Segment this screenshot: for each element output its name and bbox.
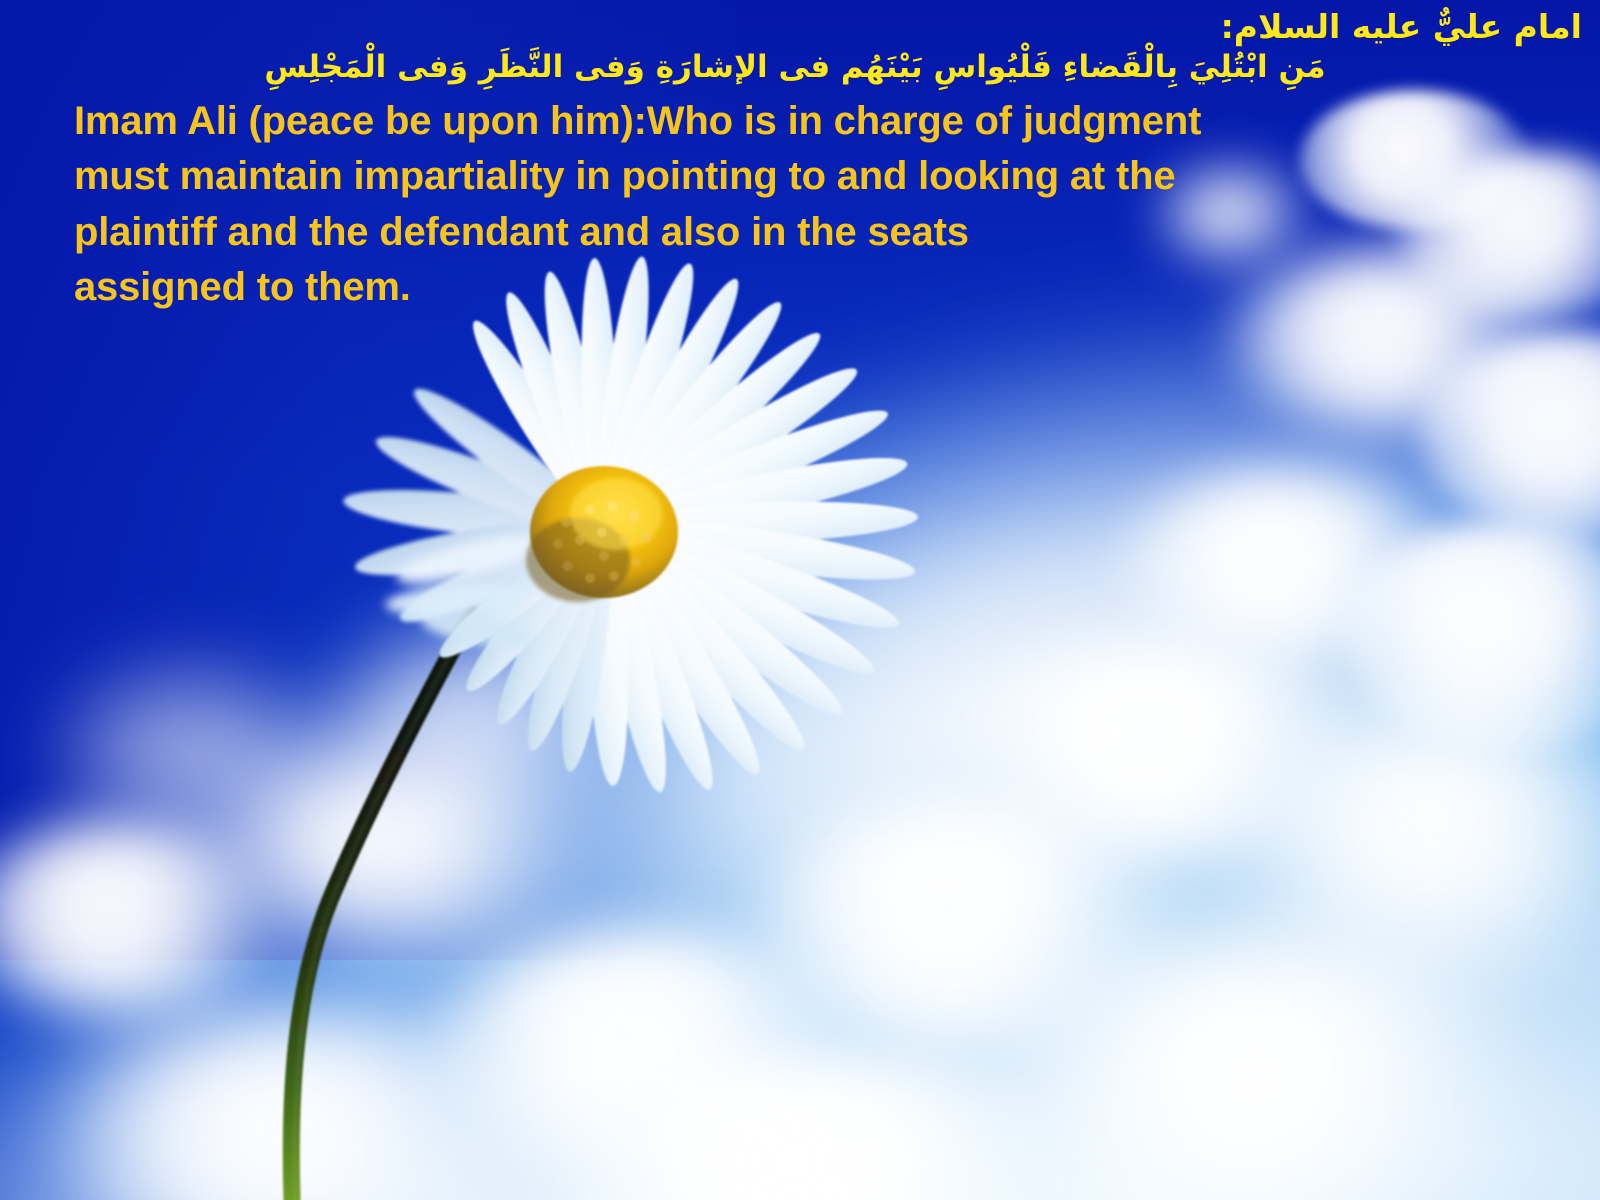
english-line: must maintain impartiality in pointing t…	[74, 149, 1300, 204]
quote-text-block: امام عليٌّ عليه السلام: مَنِ ابْتُلِيَ ب…	[0, 0, 1600, 315]
quote-image-canvas: امام عليٌّ عليه السلام: مَنِ ابْتُلِيَ ب…	[0, 0, 1600, 1200]
english-translation: Imam Ali (peace be upon him):Who is in c…	[0, 94, 1600, 315]
english-line: plaintiff and the defendant and also in …	[74, 205, 1300, 260]
arabic-hadith-text: مَنِ ابْتُلِيَ بِالْقَضاءِ فَلْيُواسِ بَ…	[0, 47, 1600, 86]
english-line: Imam Ali (peace be upon him):Who is in c…	[74, 94, 1300, 149]
arabic-heading: امام عليٌّ عليه السلام:	[0, 0, 1600, 47]
english-line: assigned to them.	[74, 260, 1300, 315]
cloud-bottom-band	[0, 816, 1600, 1200]
